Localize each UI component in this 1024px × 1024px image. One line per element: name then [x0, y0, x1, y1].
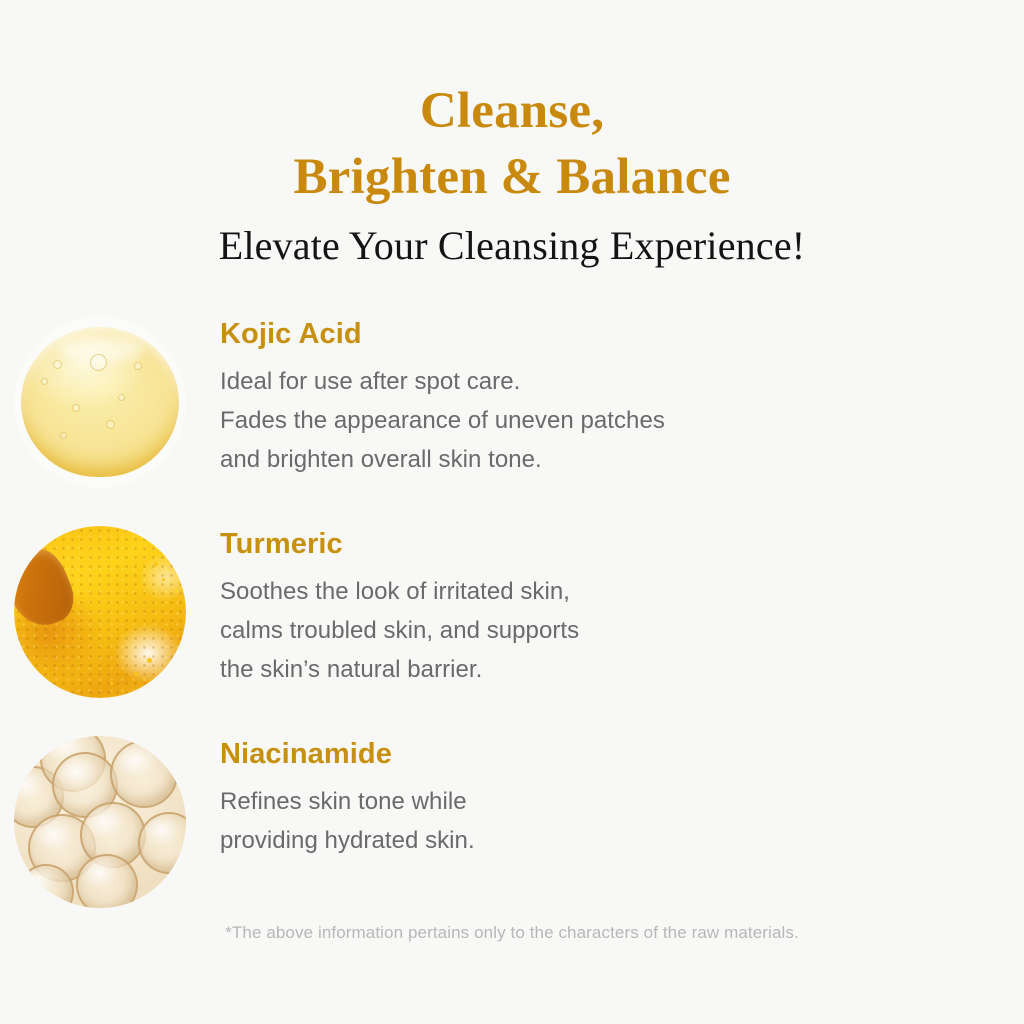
gel-bubble — [72, 404, 80, 412]
description-line: providing hydrated skin. — [220, 821, 1024, 860]
description-line: the skin’s natural barrier. — [220, 650, 1024, 689]
gel-bubble — [90, 354, 107, 371]
description-line: Soothes the look of irritated skin, — [220, 572, 1024, 611]
ingredient-list: Kojic Acid Ideal for use after spot care… — [0, 312, 1024, 942]
ingredient-image-wrap — [0, 522, 200, 698]
kojic-acid-gel-drop-photo — [14, 316, 186, 488]
ingredient-row-turmeric: Turmeric Soothes the look of irritated s… — [0, 522, 1024, 698]
description-line: calms troubled skin, and supports — [220, 611, 1024, 650]
ingredient-row-kojic-acid: Kojic Acid Ideal for use after spot care… — [0, 312, 1024, 488]
header: Cleanse, Brighten & Balance Elevate Your… — [0, 0, 1024, 270]
ingredient-description-turmeric: Soothes the look of irritated skin, calm… — [220, 572, 1024, 689]
page-subtitle: Elevate Your Cleansing Experience! — [0, 210, 1024, 270]
ingredient-description-niacinamide: Refines skin tone while providing hydrat… — [220, 782, 1024, 860]
ingredient-description-kojic-acid: Ideal for use after spot care. Fades the… — [220, 362, 1024, 479]
description-line: Fades the appearance of uneven patches — [220, 401, 1024, 440]
capsule-sphere — [76, 854, 138, 908]
powder-speck — [110, 682, 113, 685]
turmeric-powder-photo — [14, 526, 186, 698]
gel-drop-shape — [21, 327, 179, 477]
ingredient-name-turmeric: Turmeric — [220, 526, 1024, 562]
footnote: *The above information pertains only to … — [0, 921, 1024, 945]
gel-bubble — [134, 362, 142, 370]
powder-speck — [147, 658, 152, 663]
powder-speck — [162, 578, 165, 581]
ingredient-text: Kojic Acid Ideal for use after spot care… — [200, 312, 1024, 479]
capsule-sphere — [110, 740, 178, 808]
ingredient-image-wrap — [0, 312, 200, 488]
powder-speck — [134, 672, 138, 676]
gel-bubble — [106, 420, 115, 429]
description-line: Refines skin tone while — [220, 782, 1024, 821]
ingredient-text: Turmeric Soothes the look of irritated s… — [200, 522, 1024, 689]
description-line: Ideal for use after spot care. — [220, 362, 1024, 401]
niacinamide-capsules-photo — [14, 736, 186, 908]
page-title-line-2: Brighten & Balance — [0, 144, 1024, 210]
page-title-line-1: Cleanse, — [0, 78, 1024, 144]
ingredient-name-kojic-acid: Kojic Acid — [220, 316, 1024, 352]
gel-bubble — [53, 360, 62, 369]
gel-bubble — [118, 394, 125, 401]
description-line: and brighten overall skin tone. — [220, 440, 1024, 479]
gel-bubble — [41, 378, 48, 385]
page-title: Cleanse, Brighten & Balance — [0, 0, 1024, 210]
ingredient-image-wrap — [0, 732, 200, 908]
gel-bubble — [60, 432, 67, 439]
ingredient-name-niacinamide: Niacinamide — [220, 736, 1024, 772]
ingredient-text: Niacinamide Refines skin tone while prov… — [200, 732, 1024, 860]
ingredient-row-niacinamide: Niacinamide Refines skin tone while prov… — [0, 732, 1024, 908]
powder-speck — [154, 562, 158, 566]
